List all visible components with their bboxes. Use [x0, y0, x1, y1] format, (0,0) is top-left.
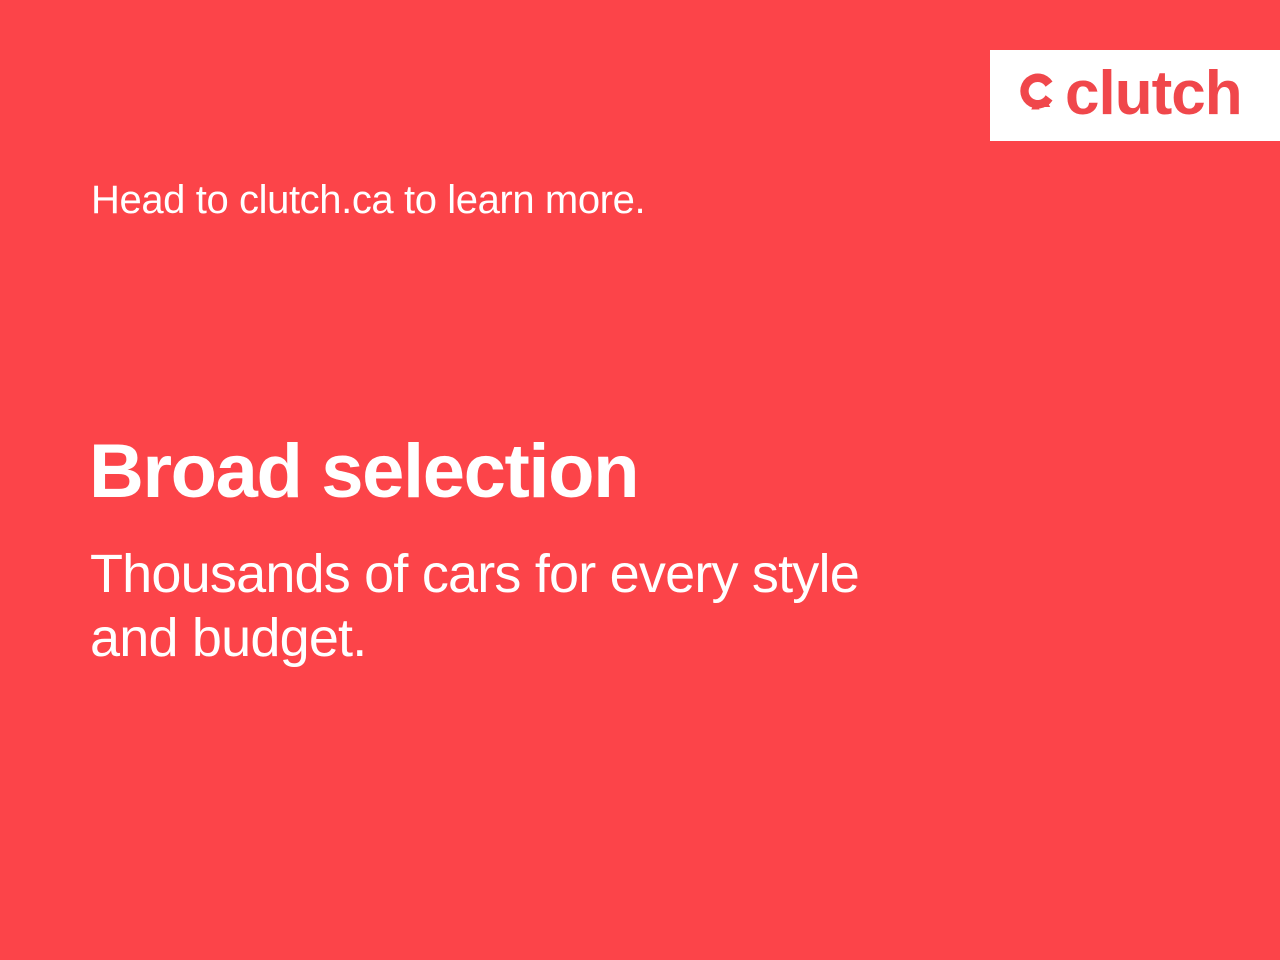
clutch-logo[interactable]: clutch	[1015, 68, 1242, 124]
clutch-disc-icon	[1015, 69, 1063, 121]
brand-logo-plate: clutch	[990, 50, 1280, 141]
headline: Broad selection	[89, 432, 638, 512]
subcopy: Thousands of cars for every style and bu…	[90, 543, 1050, 670]
subcopy-line-1: Thousands of cars for every style	[90, 543, 1050, 607]
clutch-wordmark: clutch	[1065, 66, 1242, 122]
subcopy-line-2: and budget.	[90, 607, 1050, 671]
kicker-text: Head to clutch.ca to learn more.	[91, 178, 645, 222]
promo-slide: clutch Head to clutch.ca to learn more. …	[0, 0, 1280, 960]
